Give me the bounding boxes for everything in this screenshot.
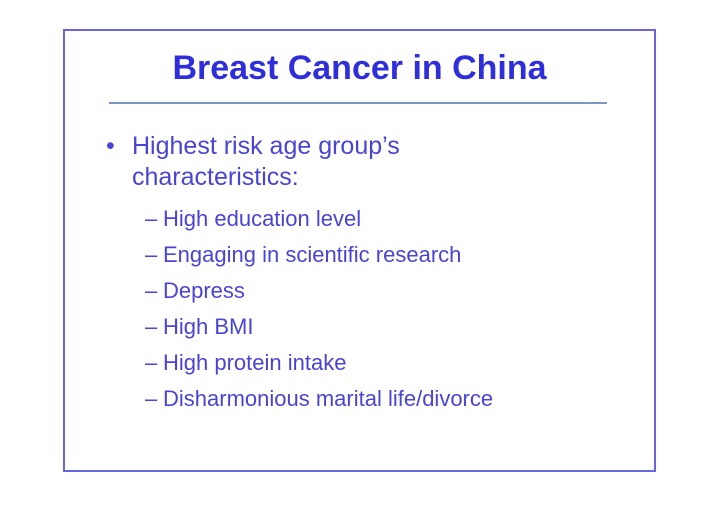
title-divider <box>109 102 607 104</box>
bullet-dash-icon: – <box>145 201 157 237</box>
list-item-label: Highest risk age group’s characteristics… <box>132 132 400 191</box>
bullet-dash-icon: – <box>145 381 157 417</box>
list-item-label: Disharmonious marital life/divorce <box>163 386 493 411</box>
list-item-label: High protein intake <box>163 350 346 375</box>
list-item: – Depress <box>145 273 654 309</box>
sub-bullet-list: – High education level – Engaging in sci… <box>65 201 654 417</box>
slide-body: • Highest risk age group’s characteristi… <box>65 131 654 417</box>
bullet-dot-icon: • <box>106 131 115 162</box>
list-item-label: Engaging in scientific research <box>163 242 461 267</box>
list-item: – Engaging in scientific research <box>145 237 654 273</box>
list-item-label: High education level <box>163 206 361 231</box>
list-item: – High protein intake <box>145 345 654 381</box>
list-item: – High education level <box>145 201 654 237</box>
bullet-dash-icon: – <box>145 237 157 273</box>
slide-canvas: Breast Cancer in China • Highest risk ag… <box>0 0 720 509</box>
list-item: • Highest risk age group’s characteristi… <box>103 131 487 193</box>
bullet-dash-icon: – <box>145 345 157 381</box>
bullet-dash-icon: – <box>145 273 157 309</box>
bullet-dash-icon: – <box>145 309 157 345</box>
page-title: Breast Cancer in China <box>65 49 654 88</box>
list-item: – High BMI <box>145 309 654 345</box>
slide-frame: Breast Cancer in China • Highest risk ag… <box>63 29 656 472</box>
page-title-text: Breast Cancer in China <box>172 49 546 87</box>
list-item: – Disharmonious marital life/divorce <box>145 381 654 417</box>
list-item-label: High BMI <box>163 314 253 339</box>
list-item-label: Depress <box>163 278 245 303</box>
